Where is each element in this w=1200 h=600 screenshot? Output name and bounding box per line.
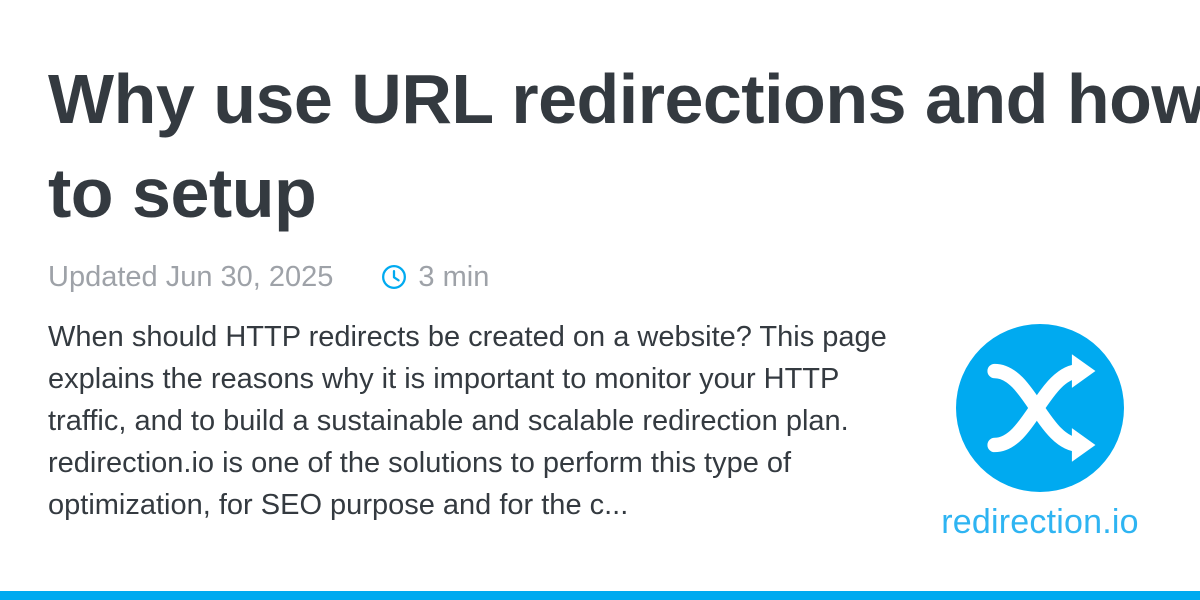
article-meta: Updated Jun 30, 2025 3 min [48,260,1123,294]
updated-date: Updated Jun 30, 2025 [48,260,333,294]
brand-block: redirection.io [925,324,1155,542]
shuffle-arrows-icon [956,324,1124,492]
read-time: 3 min [381,260,489,294]
bottom-accent-bar [0,591,1200,600]
page-title: Why use URL redirections and how to setu… [48,52,1123,240]
page-title-line-1: Why use URL redirections and how [48,60,1200,138]
page-title-line-2: to setup [48,146,1123,240]
clock-icon [381,264,407,290]
article-description: When should HTTP redirects be created on… [48,316,904,526]
open-graph-card: Why use URL redirections and how to setu… [0,0,1200,600]
read-time-label: 3 min [418,260,489,294]
brand-name: redirection.io [941,502,1138,542]
